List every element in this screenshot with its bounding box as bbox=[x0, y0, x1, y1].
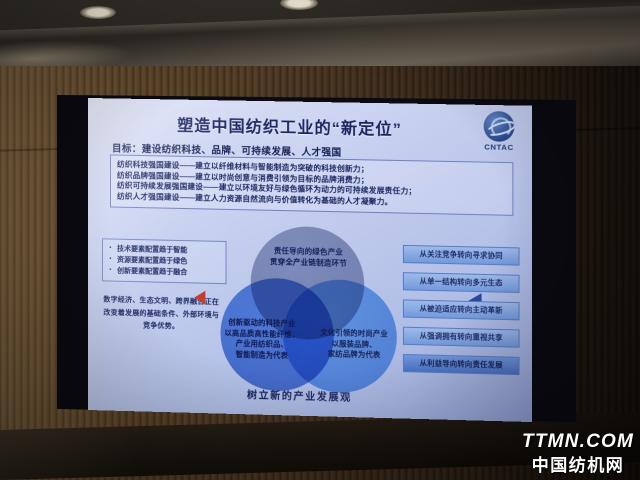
transition-box: 从被迫适应转向主动革新 bbox=[403, 299, 520, 320]
slide-title: 塑造中国纺织工业的“新定位” bbox=[88, 110, 493, 142]
transition-box: 从强调拥有转向重视共享 bbox=[403, 327, 520, 348]
watermark-name: 中国纺机网 bbox=[522, 451, 634, 476]
globe-icon bbox=[484, 111, 515, 142]
watermark-domain: TTMN.COM bbox=[522, 431, 634, 453]
photo-scene: 塑造中国纺织工业的“新定位” CNTAC 目标：建设纺织科技、品牌、可持续发展、… bbox=[0, 0, 640, 480]
transition-box: 从利益导向转向责任发展 bbox=[403, 354, 520, 375]
venn-diagram: 责任导向的绿色产业 贯穿全产业链制造环节 创新驱动的科技产业 以高品质高性能纤维… bbox=[220, 225, 394, 390]
ceiling-downlight bbox=[80, 6, 116, 19]
transition-box: 从单一结构转向多元生态 bbox=[403, 272, 520, 293]
left-arrow-icon bbox=[194, 290, 205, 304]
ceiling-downlight bbox=[280, 0, 318, 10]
watermark: TTMN.COM 中国纺机网 bbox=[522, 431, 634, 476]
left-bullet-box: 技术要素配置趋于智能 资源要素配置趋于绿色 创新要素配置趋于融合 bbox=[102, 238, 227, 284]
cntac-logo-text: CNTAC bbox=[474, 142, 523, 152]
transition-box: 从关注竞争转向寻求协同 bbox=[403, 245, 520, 266]
cntac-logo: CNTAC bbox=[474, 111, 523, 152]
presentation-slide: 塑造中国纺织工业的“新定位” CNTAC 目标：建设纺织科技、品牌、可持续发展、… bbox=[88, 98, 532, 422]
right-transition-list: 从关注竞争转向寻求协同 从单一结构转向多元生态 从被迫适应转向主动革新 从强调拥… bbox=[403, 245, 518, 384]
bullet-item: 创新要素配置趋于融合 bbox=[105, 265, 224, 279]
statements-box: 纺织科技强国建设——建立以纤维材料与智能制造为突破的科技创新力； 纺织品牌强国建… bbox=[110, 154, 513, 216]
venn-top-label: 责任导向的绿色产业 贯穿全产业链制造环节 bbox=[255, 246, 362, 270]
